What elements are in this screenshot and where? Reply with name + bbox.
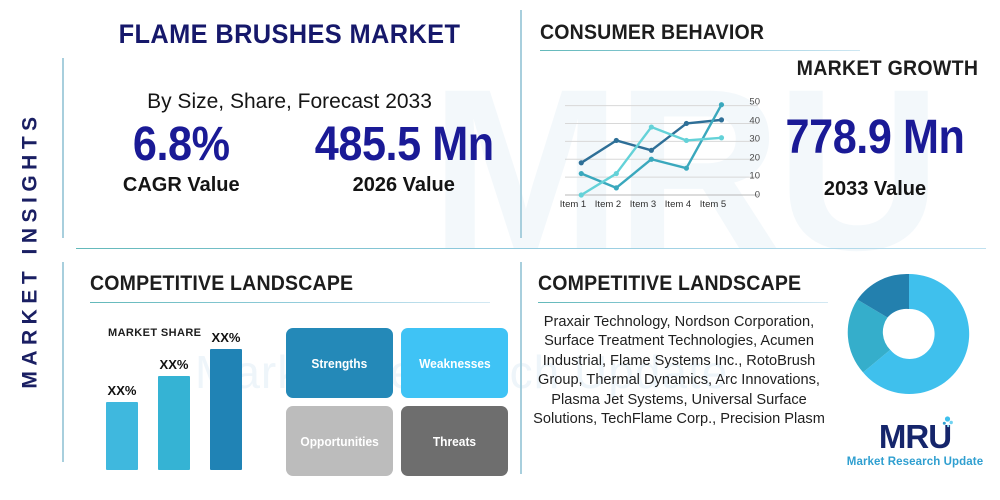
ytick-20: 20 [740, 152, 760, 163]
logo-wordmark: MRU [879, 420, 951, 453]
swot-threats-label: Threats [433, 434, 476, 449]
swot-opportunities[interactable]: Opportunities [286, 406, 393, 476]
line-point-s3-1 [579, 192, 584, 197]
swot-threats[interactable]: Threats [401, 406, 508, 476]
competitive-donut-chart [841, 266, 977, 402]
market-share-bar-chart: XX% XX% XX% [100, 340, 265, 470]
kpi-cagr: 6.8% CAGR Value [70, 120, 293, 197]
swot-strengths[interactable]: Strengths [286, 328, 393, 398]
xtick-item-3: Item 3 [623, 199, 663, 210]
page-subtitle: By Size, Share, Forecast 2033 [62, 90, 517, 114]
kpi-2026-value: 485.5 Mn [304, 120, 504, 171]
ytick-30: 30 [740, 134, 760, 145]
section-heading-consumer-behavior: CONSUMER BEHAVIOR [540, 21, 764, 45]
line-point-s3-4 [684, 138, 689, 143]
bar-1 [106, 402, 138, 470]
line-point-s2-4 [684, 166, 689, 171]
line-point-s2-5 [719, 102, 724, 107]
sidebar-label: MARKET INSIGHTS [19, 111, 43, 388]
kpi-cagr-label: CAGR Value [70, 174, 293, 197]
line-point-s1-1 [579, 160, 584, 165]
line-point-s1-5 [719, 117, 724, 122]
line-series-2 [581, 105, 721, 188]
section-heading-competitive-left: COMPETITIVE LANDSCAPE [90, 272, 353, 296]
divider-vertical-center-top [520, 10, 522, 238]
competitive-companies-text: Praxair Technology, Nordson Corporation,… [528, 313, 830, 429]
line-point-s1-2 [614, 138, 619, 143]
ytick-10: 10 [740, 171, 760, 182]
ytick-0: 0 [740, 190, 760, 201]
xtick-item-1: Item 1 [553, 199, 593, 210]
line-point-s3-3 [649, 124, 654, 129]
divider-vertical-center-bottom [520, 262, 522, 474]
xtick-item-5: Item 5 [693, 199, 733, 210]
swot-strengths-label: Strengths [312, 356, 368, 371]
market-share-label: MARKET SHARE [108, 327, 201, 339]
line-point-s1-4 [684, 121, 689, 126]
kpi-2033-value: 778.9 Mn [772, 110, 979, 165]
infographic-canvas: MARKET INSIGHTS FLAME BRUSHES MARKET By … [0, 0, 1000, 500]
section-rule-competitive-left [90, 302, 490, 303]
bar-2 [158, 376, 190, 470]
xtick-item-2: Item 2 [588, 199, 628, 210]
line-point-s2-3 [649, 157, 654, 162]
mru-logo: MRU Market Research Update [845, 420, 985, 468]
swot-weaknesses-label: Weaknesses [419, 356, 491, 371]
ytick-40: 40 [740, 115, 760, 126]
line-point-s1-3 [649, 148, 654, 153]
divider-vertical-left-bottom [62, 262, 64, 462]
bar-2-value: XX% [152, 357, 196, 372]
swot-opportunities-label: Opportunities [300, 434, 378, 449]
section-rule-consumer-behavior [540, 50, 860, 51]
kpi-2026-label: 2026 Value [293, 174, 516, 197]
page-title: FLAME BRUSHES MARKET [76, 19, 504, 50]
kpi-row: 6.8% CAGR Value 485.5 Mn 2026 Value [70, 120, 515, 197]
kpi-2033-label: 2033 Value [760, 178, 990, 201]
swot-grid: Strengths Weaknesses Opportunities Threa… [286, 328, 508, 476]
consumer-behavior-line-chart: 50 40 30 20 10 0 Item 1 Item 2 Item 3 It… [545, 98, 760, 216]
bar-3-value: XX% [204, 330, 248, 345]
line-point-s2-1 [579, 171, 584, 176]
line-point-s2-2 [614, 185, 619, 190]
section-heading-competitive-right: COMPETITIVE LANDSCAPE [538, 272, 801, 296]
xtick-item-4: Item 4 [658, 199, 698, 210]
section-heading-market-growth: MARKET GROWTH [796, 57, 978, 81]
line-point-s3-5 [719, 135, 724, 140]
swot-weaknesses[interactable]: Weaknesses [401, 328, 508, 398]
kpi-cagr-value: 6.8% [81, 120, 281, 171]
section-rule-competitive-right [538, 302, 828, 303]
line-point-s3-2 [614, 171, 619, 176]
kpi-2026: 485.5 Mn 2026 Value [293, 120, 516, 197]
bar-3 [210, 349, 242, 470]
sidebar-market-insights: MARKET INSIGHTS [0, 0, 62, 500]
divider-horizontal-mid [76, 248, 986, 249]
ytick-50: 50 [740, 97, 760, 108]
logo-tagline: Market Research Update [845, 456, 985, 468]
bar-1-value: XX% [100, 383, 144, 398]
logo-droplet-icon [941, 415, 954, 431]
divider-vertical-left-top [62, 58, 64, 238]
